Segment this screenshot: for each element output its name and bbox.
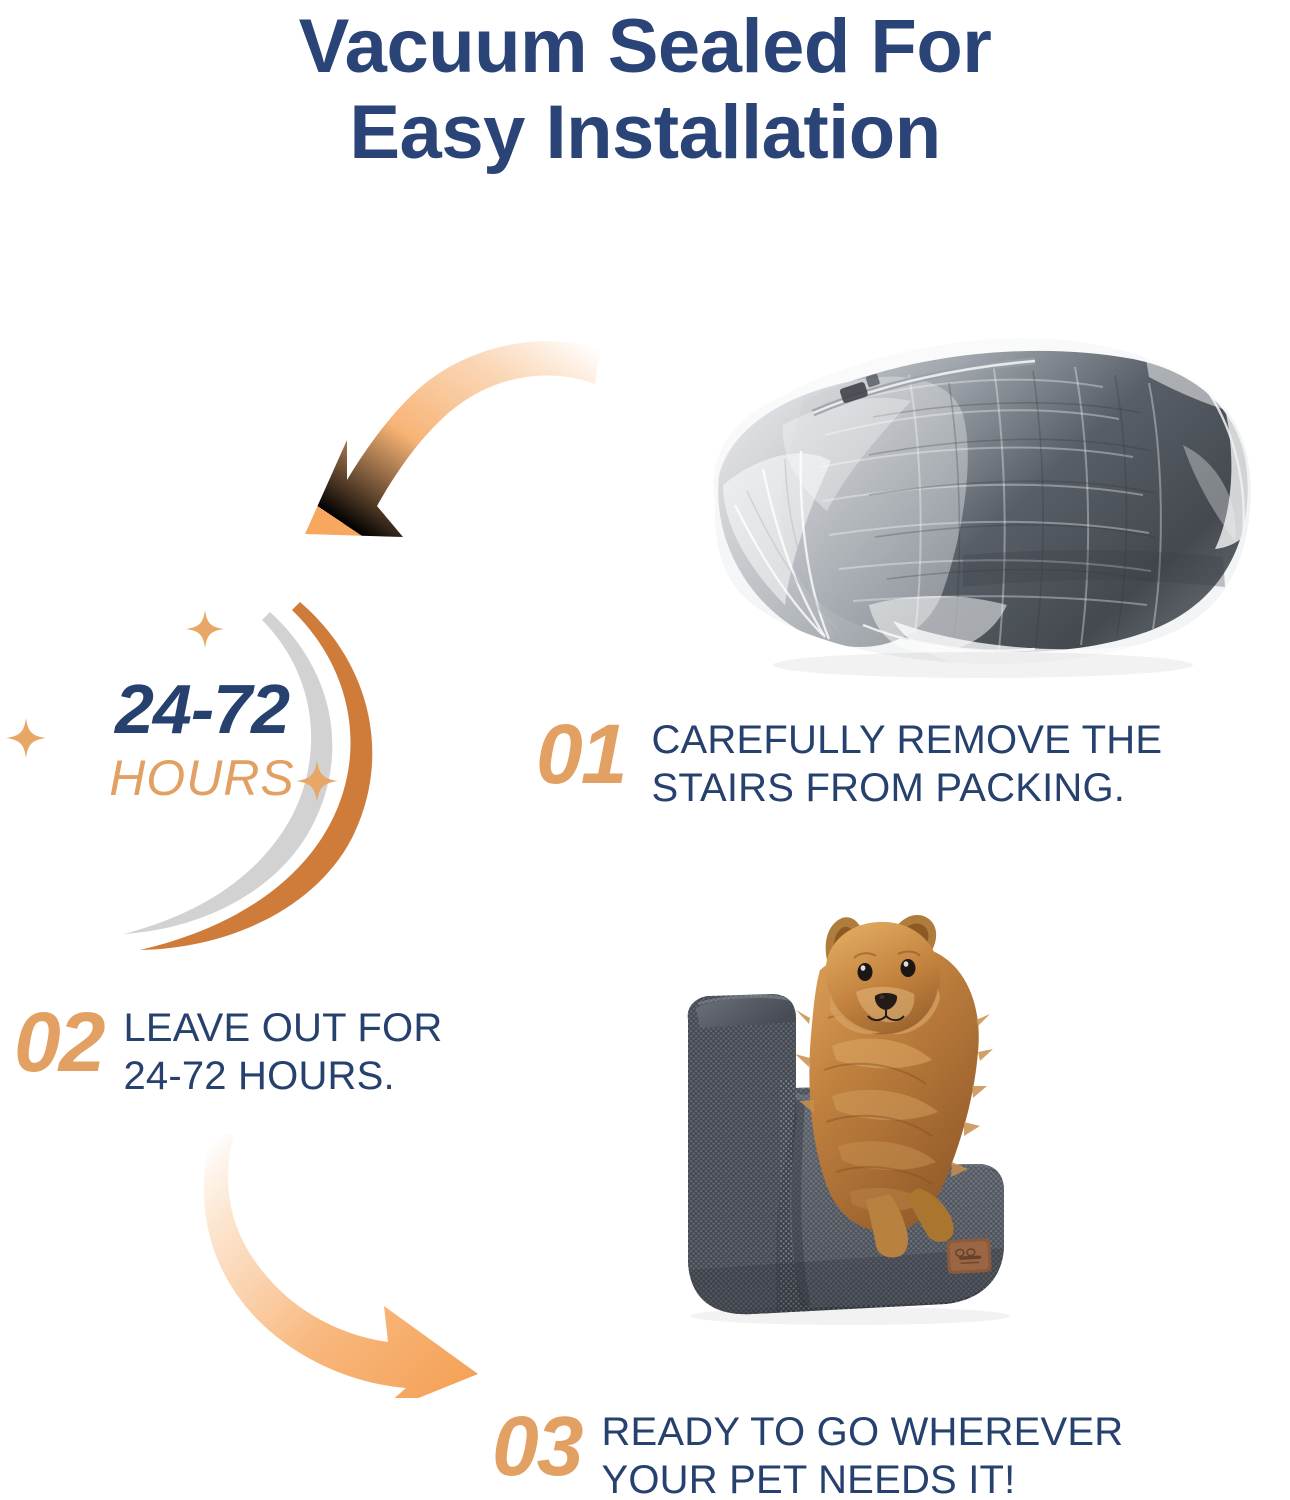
curved-arrow-down-left-icon xyxy=(295,322,605,572)
sparkle-icon xyxy=(296,760,338,802)
page-title-line-2: Easy Installation xyxy=(0,90,1290,176)
duration-range: 24-72 xyxy=(42,674,362,744)
sparkle-icon xyxy=(186,610,224,648)
step-03-number: 03 xyxy=(492,1404,581,1488)
step-01-text: CAREFULLY REMOVE THE STAIRS FROM PACKING… xyxy=(651,712,1162,812)
curved-arrow-down-right-icon xyxy=(178,1128,538,1398)
sparkle-icon xyxy=(6,718,46,758)
step-02: 02 LEAVE OUT FOR 24-72 HOURS. xyxy=(14,1000,442,1100)
step-01-number: 01 xyxy=(536,712,625,796)
step-01: 01 CAREFULLY REMOVE THE STAIRS FROM PACK… xyxy=(536,712,1162,812)
step-03-text: READY TO GO WHEREVER YOUR PET NEEDS IT! xyxy=(601,1404,1123,1500)
infographic-page: Vacuum Sealed For Easy Installation 24-7… xyxy=(0,0,1290,1500)
step-02-text: LEAVE OUT FOR 24-72 HOURS. xyxy=(123,1000,442,1100)
brand-logo-tag xyxy=(946,1238,992,1274)
page-title: Vacuum Sealed For Easy Installation xyxy=(0,4,1290,176)
vacuum-sealed-package-photo xyxy=(663,305,1288,690)
duration-badge: 24-72 HOURS xyxy=(0,598,440,968)
pet-stairs-with-dog-photo xyxy=(660,900,1110,1365)
step-02-number: 02 xyxy=(14,1000,103,1084)
step-03: 03 READY TO GO WHEREVER YOUR PET NEEDS I… xyxy=(492,1404,1123,1500)
page-title-line-1: Vacuum Sealed For xyxy=(0,4,1290,90)
